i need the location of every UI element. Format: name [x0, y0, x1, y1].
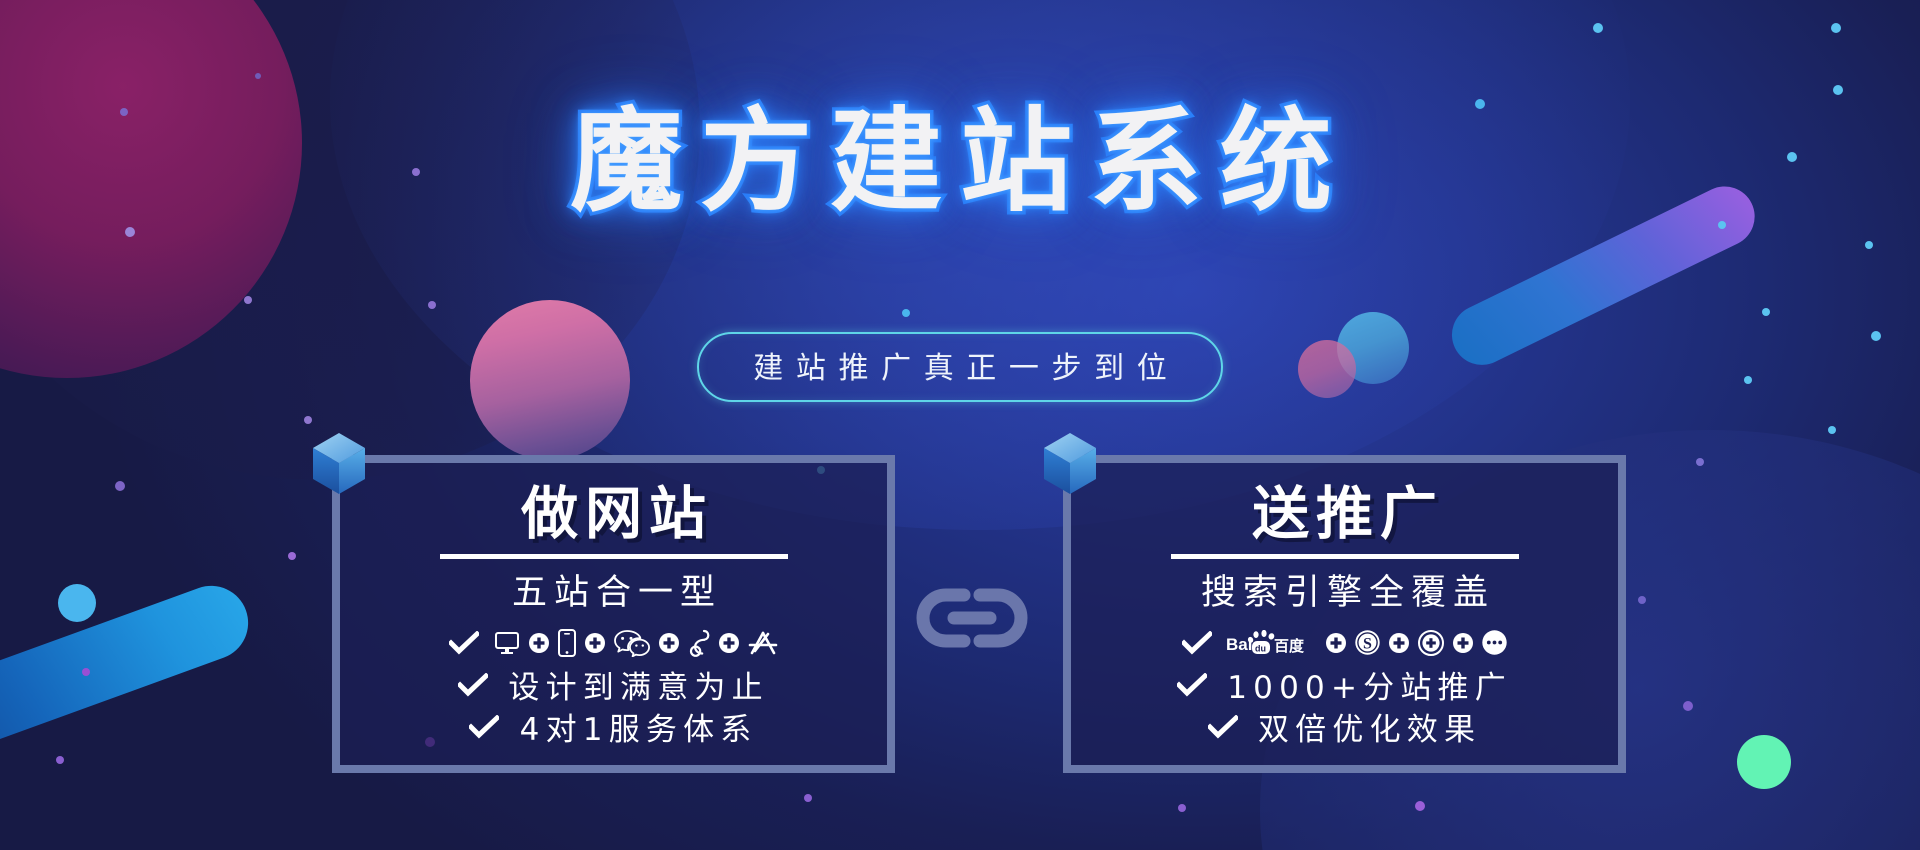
feature-row-design: 设计到满意为止 — [458, 664, 769, 706]
title-underline — [440, 554, 788, 559]
desktop-monitor-icon — [493, 629, 521, 657]
platform-icon-row — [493, 628, 779, 658]
decor-dot — [255, 73, 261, 79]
check-icon — [449, 631, 479, 655]
plus-circle-icon — [718, 632, 740, 654]
decor-dot — [125, 227, 135, 237]
plus-circle-icon — [658, 632, 680, 654]
feature-label: 设计到满意为止 — [502, 662, 769, 707]
feature-row-platforms — [449, 622, 779, 664]
check-icon — [469, 715, 499, 739]
feature-row-search-engines: Bai du 百度 — [1182, 622, 1508, 664]
baidu-du-text: du — [1255, 643, 1266, 653]
subtitle-block: 建站推广真正一步到位 — [0, 332, 1920, 402]
card-make-website[interactable]: 做网站 五站合一型 — [332, 455, 895, 773]
wechat-icon — [613, 629, 651, 657]
app-store-icon — [747, 629, 779, 657]
decor-dot — [902, 309, 910, 317]
feature-row-service: 4对1服务体系 — [469, 706, 757, 748]
feature-row-double-effect: 双倍优化效果 — [1208, 706, 1481, 748]
main-title: 魔方建站系统 — [570, 96, 1350, 228]
sogou-letter: S — [1363, 636, 1372, 653]
baidu-chinese-text: 百度 — [1274, 637, 1305, 655]
decor-dot — [1831, 23, 1841, 33]
check-icon — [1208, 715, 1238, 739]
360-search-icon — [1417, 629, 1445, 657]
card-free-promotion[interactable]: 送推广 搜索引擎全覆盖 Bai — [1063, 455, 1626, 773]
decor-dot — [1833, 85, 1843, 95]
card-title: 做网站 — [514, 485, 712, 545]
sogou-icon: S — [1354, 629, 1381, 656]
feature-label: 1000+分站推广 — [1221, 662, 1512, 707]
check-icon — [1177, 673, 1207, 697]
feature-label: 4对1服务体系 — [513, 704, 757, 749]
decor-dot — [1762, 308, 1770, 316]
card-subtitle: 五站合一型 — [505, 564, 722, 615]
check-icon — [1182, 631, 1212, 655]
baidu-logo-icon: Bai du 百度 — [1226, 630, 1318, 656]
title-block: 魔方建站系统 — [0, 96, 1920, 228]
subtitle-pill: 建站推广真正一步到位 — [697, 332, 1224, 402]
weibo-icon — [687, 628, 711, 658]
plus-circle-icon — [1452, 632, 1474, 654]
decor-dot — [1415, 801, 1425, 811]
decor-dot — [1865, 241, 1873, 249]
plus-circle-icon — [528, 632, 550, 654]
feature-label: 双倍优化效果 — [1252, 704, 1481, 749]
feature-row-substations: 1000+分站推广 — [1177, 664, 1512, 706]
decor-dot — [1593, 23, 1603, 33]
background-light-sweep — [330, 0, 1630, 530]
mobile-phone-icon — [557, 628, 577, 658]
decor-dot — [304, 416, 312, 424]
decor-dot — [1828, 426, 1836, 434]
check-icon — [458, 673, 488, 697]
card-subtitle: 搜索引擎全覆盖 — [1194, 564, 1495, 615]
decor-dot — [804, 794, 812, 802]
decor-dot — [428, 301, 436, 309]
title-underline — [1171, 554, 1519, 559]
decor-dot — [244, 296, 252, 304]
plus-circle-icon — [1388, 632, 1410, 654]
more-ellipsis-icon — [1481, 629, 1508, 656]
plus-circle-icon — [584, 632, 606, 654]
feature-cards-row: 做网站 五站合一型 — [0, 455, 1920, 775]
plus-circle-icon — [1325, 632, 1347, 654]
card-title: 送推广 — [1245, 485, 1443, 545]
background-blob-navy — [0, 0, 700, 480]
search-engine-icon-row: Bai du 百度 — [1226, 629, 1508, 657]
chain-link-icon — [912, 583, 1032, 653]
promo-banner: 魔方建站系统 建站推广真正一步到位 — [0, 0, 1920, 850]
decor-dot — [1178, 804, 1186, 812]
